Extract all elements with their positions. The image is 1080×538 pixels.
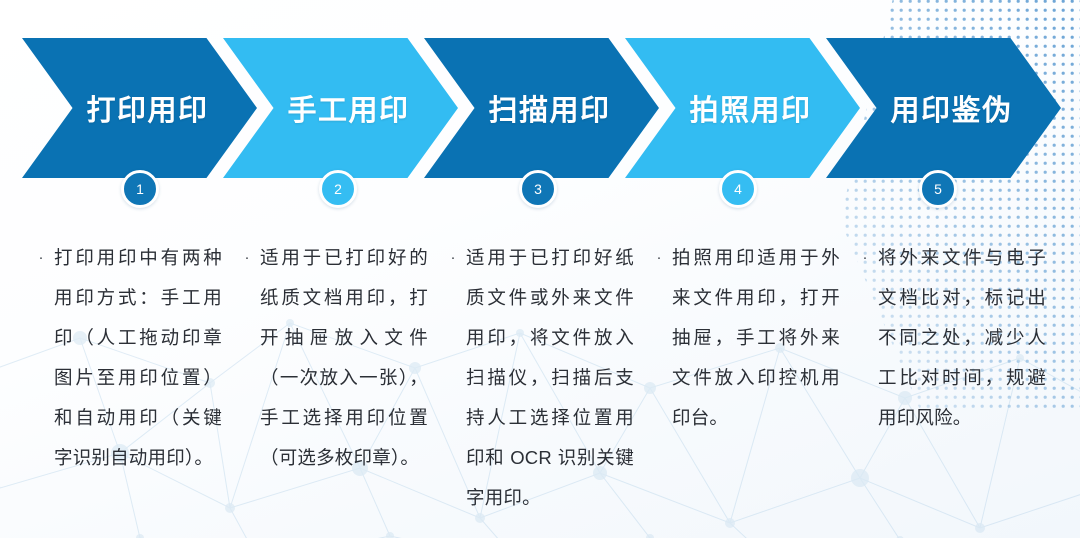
chevron-label-5: 用印鉴伪 — [890, 87, 1012, 129]
step-number-text-3: 3 — [534, 181, 542, 197]
process-chevron-band: 打印用印 手工用印 扫描用印 拍照用印 用印鉴伪 1 2 3 4 5 — [0, 38, 1080, 178]
chevron-step-4[interactable]: 拍照用印 — [625, 38, 860, 178]
description-text-2: 适用于已打印好的纸质文档用印，打开抽屉放入文件（一次放入一张），手工选择用印位置… — [260, 238, 428, 478]
description-text-3: 适用于已打印好纸质文件或外来文件用印，将文件放入扫描仪，扫描后支持人工选择位置用… — [466, 238, 634, 518]
step-number-text-2: 2 — [334, 181, 342, 197]
bullet-marker-5: · — [852, 238, 878, 278]
chevron-label-4: 拍照用印 — [689, 87, 811, 129]
chevron-step-5[interactable]: 用印鉴伪 — [826, 38, 1061, 178]
chevron-step-2[interactable]: 手工用印 — [223, 38, 458, 178]
bullet-marker-2: · — [234, 238, 260, 278]
chevron-step-1[interactable]: 打印用印 — [22, 38, 257, 178]
step-number-badge-2: 2 — [319, 170, 357, 208]
description-column-4: · 拍照用印适用于外来文件用印，打开抽屉，手工将外来文件放入印控机用印台。 — [646, 238, 842, 538]
step-number-text-4: 4 — [734, 181, 742, 197]
step-number-badge-4: 4 — [719, 170, 757, 208]
step-number-text-1: 1 — [136, 181, 144, 197]
bullet-marker-1: · — [28, 238, 54, 278]
description-column-2: · 适用于已打印好的纸质文档用印，打开抽屉放入文件（一次放入一张），手工选择用印… — [234, 238, 430, 538]
description-column-3: · 适用于已打印好纸质文件或外来文件用印，将文件放入扫描仪，扫描后支持人工选择位… — [440, 238, 636, 538]
step-number-badge-5: 5 — [919, 170, 957, 208]
description-text-1: 打印用印中有两种用印方式：手工用印（人工拖动印章图片至用印位置）和自动用印（关键… — [54, 238, 222, 478]
step-number-badge-1: 1 — [121, 170, 159, 208]
description-columns: · 打印用印中有两种用印方式：手工用印（人工拖动印章图片至用印位置）和自动用印（… — [0, 238, 1080, 538]
chevron-step-3[interactable]: 扫描用印 — [424, 38, 659, 178]
description-text-4: 拍照用印适用于外来文件用印，打开抽屉，手工将外来文件放入印控机用印台。 — [672, 238, 840, 438]
step-number-text-5: 5 — [934, 181, 942, 197]
chevron-label-1: 打印用印 — [86, 87, 208, 129]
description-column-1: · 打印用印中有两种用印方式：手工用印（人工拖动印章图片至用印位置）和自动用印（… — [28, 238, 224, 538]
chevron-label-3: 扫描用印 — [488, 87, 610, 129]
chevron-label-2: 手工用印 — [287, 87, 409, 129]
bullet-marker-4: · — [646, 238, 672, 278]
description-column-5: · 将外来文件与电子文档比对，标记出不同之处，减少人工比对时间，规避用印风险。 — [852, 238, 1048, 538]
slide-canvas: 打印用印 手工用印 扫描用印 拍照用印 用印鉴伪 1 2 3 4 5 — [0, 0, 1080, 538]
bullet-marker-3: · — [440, 238, 466, 278]
step-number-badge-3: 3 — [519, 170, 557, 208]
description-text-5: 将外来文件与电子文档比对，标记出不同之处，减少人工比对时间，规避用印风险。 — [878, 238, 1046, 438]
